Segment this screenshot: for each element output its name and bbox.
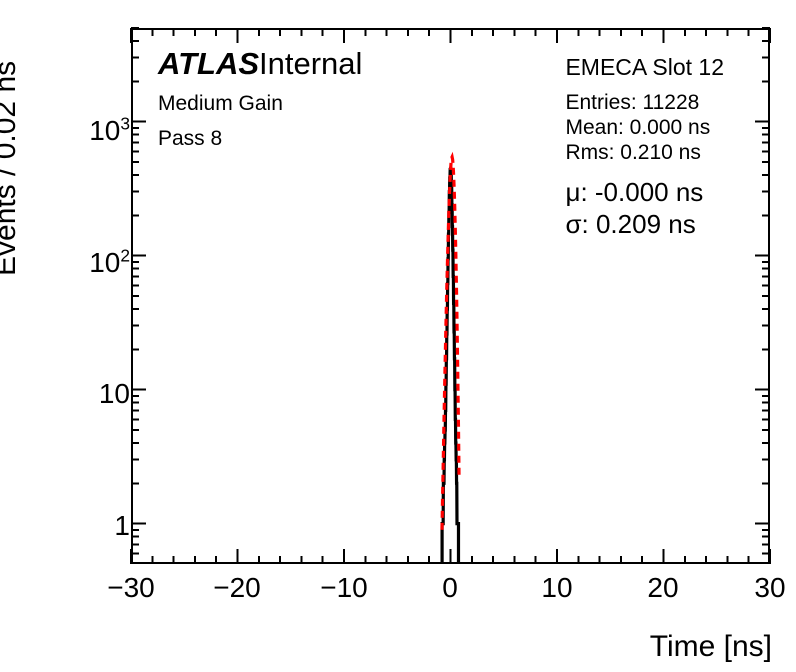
atlas-label-block: ATLASInternal Medium Gain Pass 8 — [158, 48, 362, 149]
gain-label: Medium Gain — [158, 93, 362, 114]
fit-mu-value: μ: -0.000 ns — [565, 177, 724, 209]
atlas-status-label: Internal — [259, 46, 362, 81]
statistics-block: EMECA Slot 12 Entries: 11228 Mean: 0.000… — [565, 56, 724, 241]
spacer — [565, 79, 724, 91]
spacer-2 — [565, 165, 724, 177]
fit-sigma-value: σ: 0.209 ns — [565, 209, 724, 241]
mean-value: Mean: 0.000 ns — [565, 116, 724, 141]
region-label: EMECA Slot 12 — [565, 56, 724, 79]
atlas-label: ATLASInternal — [158, 48, 362, 79]
rms-value: Rms: 0.210 ns — [565, 141, 724, 166]
pass-label: Pass 8 — [158, 128, 362, 149]
entries-value: Entries: 11228 — [565, 91, 724, 116]
plot-canvas: Events / 0.02 ns Time [ns] 1 10 102 103 … — [0, 0, 796, 672]
atlas-experiment-label: ATLAS — [158, 46, 259, 81]
